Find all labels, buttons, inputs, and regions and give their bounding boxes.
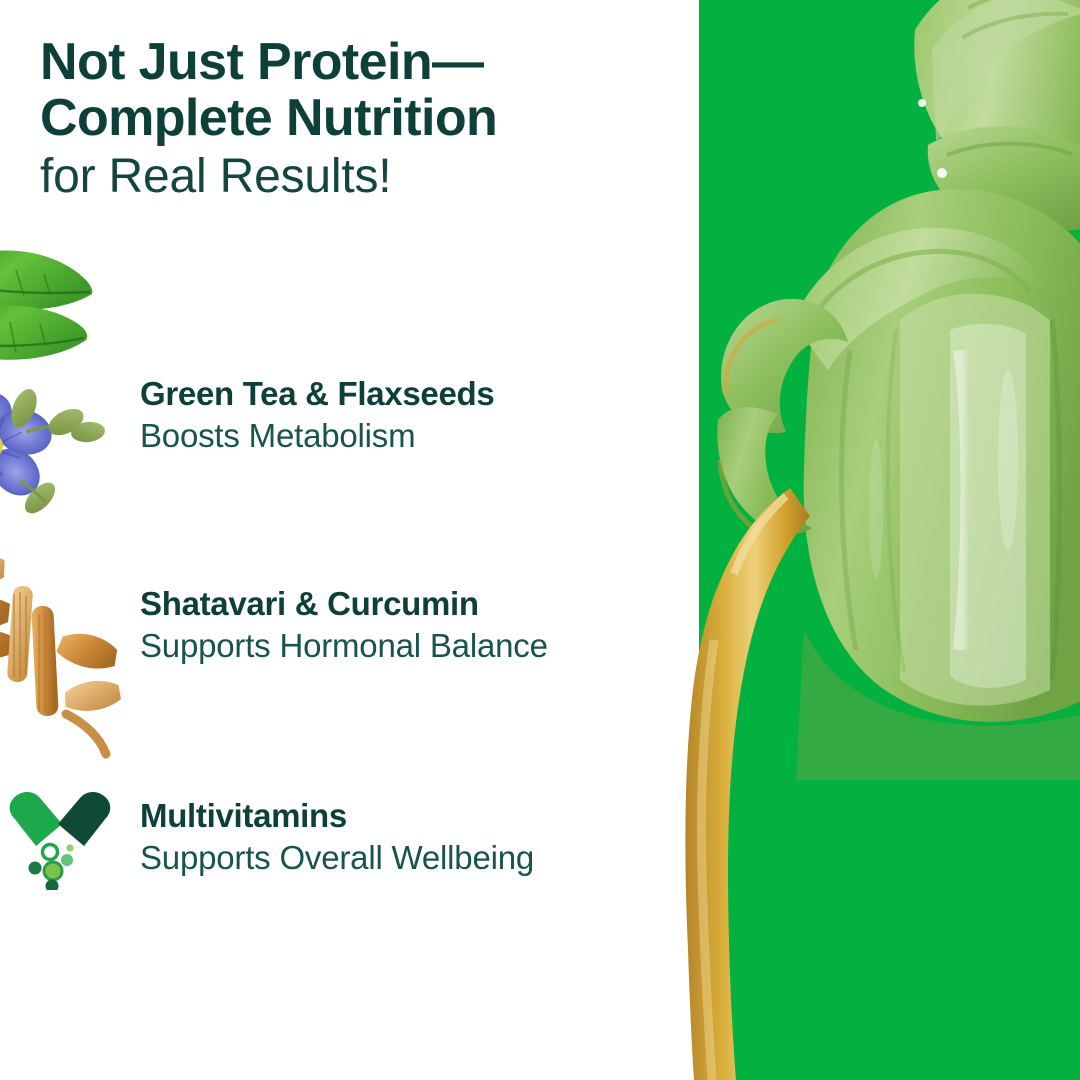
feature-title: Green Tea & Flaxseeds — [140, 374, 494, 414]
headline-subline: for Real Results! — [40, 146, 680, 208]
feature-title: Multivitamins — [140, 796, 534, 836]
headline-line-1: Not Just Protein— — [40, 34, 680, 90]
green-tea-and-flax-flower-image — [0, 236, 134, 526]
headline-block: Not Just Protein— Complete Nutrition for… — [40, 34, 680, 208]
pouring-liquid-stream — [640, 430, 840, 1080]
feature-subtitle: Boosts Metabolism — [140, 414, 494, 458]
feature-subtitle: Supports Overall Wellbeing — [140, 836, 534, 880]
feature-item-multivitamins: Multivitamins Supports Overall Wellbeing — [140, 796, 534, 880]
feature-item-green-tea: Green Tea & Flaxseeds Boosts Metabolism — [140, 374, 494, 458]
promo-banner: Not Just Protein— Complete Nutrition for… — [0, 0, 1080, 1080]
feature-title: Shatavari & Curcumin — [140, 584, 548, 624]
headline-line-2: Complete Nutrition — [40, 90, 680, 146]
feature-item-shatavari: Shatavari & Curcumin Supports Hormonal B… — [140, 584, 548, 668]
shatavari-roots-image — [0, 548, 124, 760]
feature-subtitle: Supports Hormonal Balance — [140, 624, 548, 668]
open-capsule-icon — [6, 790, 114, 890]
